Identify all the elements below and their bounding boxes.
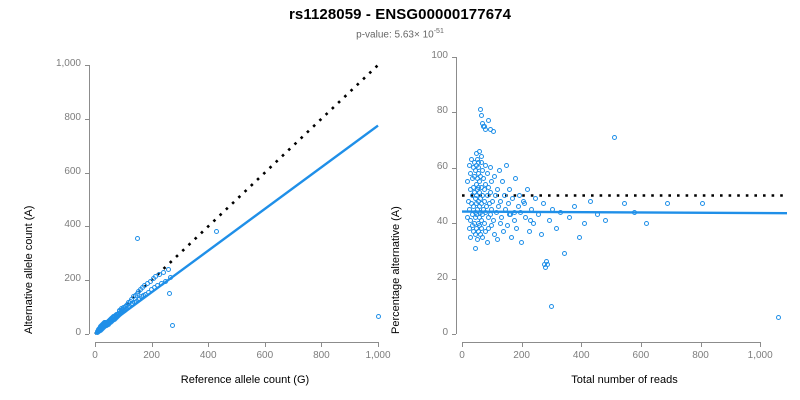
- data-point: [376, 314, 381, 319]
- x-axis-title: Total number of reads: [462, 374, 787, 386]
- data-point: [482, 221, 487, 226]
- trend-lines: [400, 0, 800, 400]
- y-tick-label: 400: [33, 219, 81, 230]
- data-point: [547, 218, 552, 223]
- x-tick-label: 600: [611, 350, 671, 361]
- data-point: [473, 246, 478, 251]
- data-point: [572, 204, 577, 209]
- data-point: [501, 229, 506, 234]
- data-point: [506, 201, 511, 206]
- data-point: [499, 215, 504, 220]
- data-point: [495, 237, 500, 242]
- y-tick-label: 0: [33, 327, 81, 338]
- data-point: [554, 226, 559, 231]
- data-point: [503, 207, 508, 212]
- x-tick: [462, 342, 463, 347]
- x-tick: [95, 342, 96, 347]
- data-point: [595, 212, 600, 217]
- y-tick-label: 60: [400, 161, 448, 172]
- y-axis-title: Alternative allele count (A): [23, 206, 35, 334]
- data-point: [528, 218, 533, 223]
- data-point: [512, 210, 517, 215]
- x-tick: [321, 342, 322, 347]
- plot-area-allele-counts: 02004006008001,00002004006008001,000Refe…: [0, 0, 400, 400]
- data-point: [478, 107, 483, 112]
- x-tick: [378, 342, 379, 347]
- data-point: [516, 204, 521, 209]
- panel-allelic-ratio: 02040608010002004006008001,000Total numb…: [400, 0, 800, 400]
- y-tick: [85, 226, 89, 227]
- data-point: [135, 236, 140, 241]
- data-point: [161, 270, 166, 275]
- data-point: [502, 193, 507, 198]
- data-point: [644, 221, 649, 226]
- data-point: [166, 267, 171, 272]
- data-point: [498, 221, 503, 226]
- data-point: [492, 232, 497, 237]
- data-point: [533, 196, 538, 201]
- data-point: [562, 251, 567, 256]
- data-point: [481, 124, 486, 129]
- data-point: [525, 187, 530, 192]
- data-point: [480, 193, 485, 198]
- data-point: [497, 168, 502, 173]
- data-point: [558, 210, 563, 215]
- data-point: [509, 235, 514, 240]
- data-point: [536, 212, 541, 217]
- x-tick-label: 800: [291, 350, 351, 361]
- data-point: [603, 218, 608, 223]
- y-axis-line: [456, 57, 457, 334]
- x-tick: [522, 342, 523, 347]
- data-point: [588, 199, 593, 204]
- data-point: [488, 212, 493, 217]
- y-axis-line: [89, 65, 90, 334]
- data-point: [505, 223, 510, 228]
- data-point: [491, 129, 496, 134]
- y-tick: [452, 279, 456, 280]
- data-point: [214, 229, 219, 234]
- y-tick-label: 800: [33, 112, 81, 123]
- data-point: [700, 201, 705, 206]
- data-point: [523, 215, 528, 220]
- x-tick-label: 600: [235, 350, 295, 361]
- data-point: [665, 201, 670, 206]
- data-point: [498, 199, 503, 204]
- y-tick: [85, 119, 89, 120]
- data-point: [550, 207, 555, 212]
- x-axis-line: [95, 342, 378, 343]
- y-axis-title: Percentage alternative (A): [390, 206, 402, 334]
- x-tick-label: 400: [178, 350, 238, 361]
- figure-root: rs1128059 - ENSG00000177674 p-value: 5.6…: [0, 0, 800, 400]
- data-point: [167, 291, 172, 296]
- data-point: [612, 135, 617, 140]
- y-tick: [452, 57, 456, 58]
- data-point: [170, 323, 175, 328]
- data-point: [529, 207, 534, 212]
- data-point: [489, 179, 494, 184]
- x-tick-label: 200: [122, 350, 182, 361]
- x-tick-label: 0: [432, 350, 492, 361]
- data-point: [632, 210, 637, 215]
- data-point: [507, 187, 512, 192]
- data-point: [519, 240, 524, 245]
- data-point: [486, 185, 491, 190]
- data-point: [486, 118, 491, 123]
- data-point: [496, 204, 501, 209]
- x-tick: [581, 342, 582, 347]
- data-point: [500, 179, 505, 184]
- data-point: [163, 279, 168, 284]
- data-point: [582, 221, 587, 226]
- data-point: [567, 215, 572, 220]
- y-tick: [452, 168, 456, 169]
- data-point: [510, 196, 515, 201]
- data-point: [522, 201, 527, 206]
- x-tick: [208, 342, 209, 347]
- data-point: [491, 218, 496, 223]
- data-point: [513, 176, 518, 181]
- y-tick: [452, 223, 456, 224]
- y-tick-label: 200: [33, 273, 81, 284]
- y-tick: [452, 334, 456, 335]
- data-point: [492, 174, 497, 179]
- y-tick: [452, 112, 456, 113]
- data-point: [494, 210, 499, 215]
- y-tick: [85, 65, 89, 66]
- plot-area-allelic-ratio: 02040608010002004006008001,000Total numb…: [400, 0, 800, 400]
- y-tick: [85, 334, 89, 335]
- data-point: [549, 304, 554, 309]
- x-tick: [265, 342, 266, 347]
- x-axis-title: Reference allele count (G): [95, 374, 395, 386]
- y-tick-label: 1,000: [33, 58, 81, 69]
- data-point: [495, 187, 500, 192]
- data-point: [468, 235, 473, 240]
- data-point: [527, 229, 532, 234]
- data-point: [168, 275, 173, 280]
- data-point: [539, 232, 544, 237]
- data-point: [504, 163, 509, 168]
- y-tick-label: 40: [400, 216, 448, 227]
- y-tick-label: 600: [33, 166, 81, 177]
- data-point: [517, 193, 522, 198]
- x-tick-label: 400: [551, 350, 611, 361]
- data-point: [518, 210, 523, 215]
- x-tick: [152, 342, 153, 347]
- x-tick: [641, 342, 642, 347]
- x-axis-line: [462, 342, 760, 343]
- data-point: [622, 201, 627, 206]
- y-tick-label: 100: [400, 50, 448, 61]
- data-point: [490, 199, 495, 204]
- data-point: [480, 235, 485, 240]
- x-tick: [760, 342, 761, 347]
- data-point: [485, 171, 490, 176]
- y-tick-label: 20: [400, 272, 448, 283]
- data-point: [479, 113, 484, 118]
- y-tick: [85, 280, 89, 281]
- y-tick-label: 80: [400, 105, 448, 116]
- x-tick-label: 200: [492, 350, 552, 361]
- data-point: [577, 235, 582, 240]
- data-point: [488, 165, 493, 170]
- x-tick-label: 800: [671, 350, 731, 361]
- y-tick-label: 0: [400, 327, 448, 338]
- x-tick: [701, 342, 702, 347]
- data-point: [489, 223, 494, 228]
- data-point: [481, 176, 486, 181]
- data-point: [512, 218, 517, 223]
- data-point: [493, 193, 498, 198]
- x-tick-label: 1,000: [730, 350, 790, 361]
- data-point: [485, 240, 490, 245]
- data-point: [475, 237, 480, 242]
- x-tick-label: 0: [65, 350, 125, 361]
- data-point: [541, 201, 546, 206]
- panel-allele-counts: 02004006008001,00002004006008001,000Refe…: [0, 0, 400, 400]
- data-point: [476, 160, 481, 165]
- data-point: [514, 226, 519, 231]
- data-point: [776, 315, 781, 320]
- y-tick: [85, 173, 89, 174]
